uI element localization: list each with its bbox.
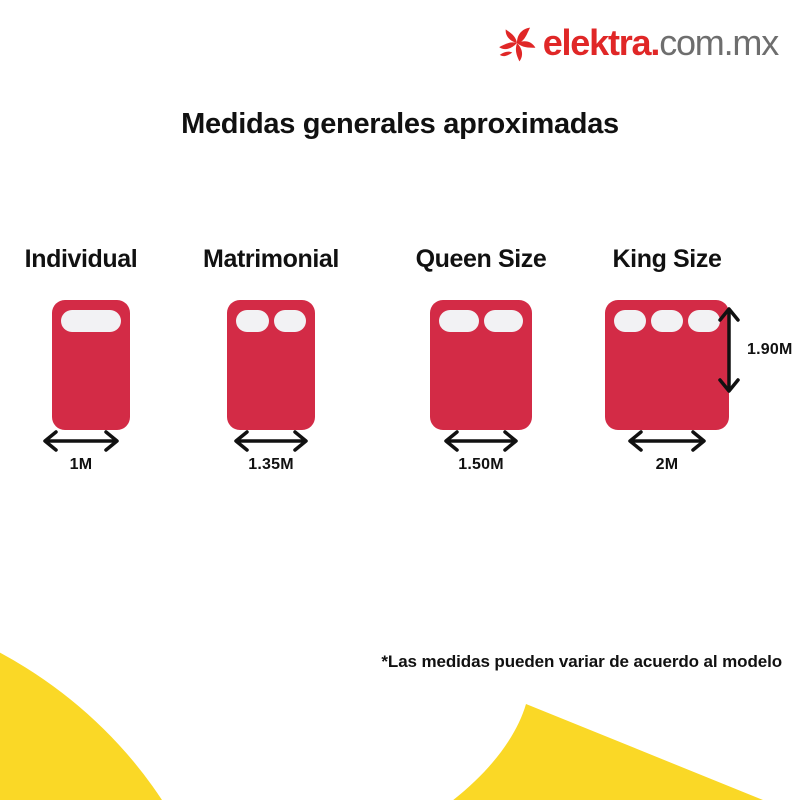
pillow [236,310,269,332]
logo-tld: com.mx [659,22,778,63]
bed-label-matrimonial: Matrimonial [186,245,356,274]
bed-block-matrimonial: Matrimonial 1.35M [186,245,356,485]
width-value-individual: 1M [10,456,152,474]
bed-label-king-size: King Size [597,245,737,274]
pillow [274,310,307,332]
yellow-bottom-left-curve-decoration [0,595,230,800]
elektra-logo[interactable]: elektra.com.mx [498,20,778,66]
width-value-king-size: 2M [597,456,737,474]
width-measure-king-size: 2M [597,430,737,474]
pillow [439,310,479,332]
pillow-row-individual [52,310,130,332]
double-arrow-icon [625,430,709,452]
pillow-row-king-size [605,310,729,332]
bed-block-queen-size: Queen Size 1.50M [399,245,563,485]
pillow [61,310,121,332]
mattress-matrimonial [227,300,315,430]
bed-block-king-size: King Size 2M [597,245,737,485]
bed-block-individual: Individual 1M [10,245,152,485]
pillow [688,310,720,332]
mattress-queen-size [430,300,532,430]
pillow [651,310,683,332]
width-value-queen-size: 1.50M [399,456,563,474]
bed-sizes-row: Individual 1M Matrimonial [0,245,800,485]
page-title: Medidas generales aproximadas [0,108,800,141]
mattress-individual [52,300,130,430]
pillow [484,310,524,332]
footnote-disclaimer: *Las medidas pueden variar de acuerdo al… [381,652,782,672]
mattress-sizes-infographic: elektra.com.mx Medidas generales aproxim… [0,0,800,800]
width-value-matrimonial: 1.35M [186,456,356,474]
bed-label-individual: Individual [10,245,152,274]
yellow-bottom-right-wedge-decoration [330,690,800,800]
bed-label-queen-size: Queen Size [399,245,563,274]
double-arrow-icon [231,430,311,452]
elektra-wordmark: elektra.com.mx [543,25,778,61]
elektra-swirl-icon [498,24,536,62]
logo-brand-name: elektra [543,22,651,63]
vertical-double-arrow-icon [718,304,740,396]
double-arrow-icon [40,430,122,452]
double-arrow-icon [441,430,521,452]
length-value-king-size: 1.90M [747,341,792,359]
length-measure-king-size: 1.90M [718,300,800,400]
width-measure-matrimonial: 1.35M [186,430,356,474]
mattress-king-size [605,300,729,430]
logo-dot: . [650,22,659,63]
width-measure-queen-size: 1.50M [399,430,563,474]
pillow-row-queen-size [430,310,532,332]
width-measure-individual: 1M [10,430,152,474]
pillow [614,310,646,332]
pillow-row-matrimonial [227,310,315,332]
